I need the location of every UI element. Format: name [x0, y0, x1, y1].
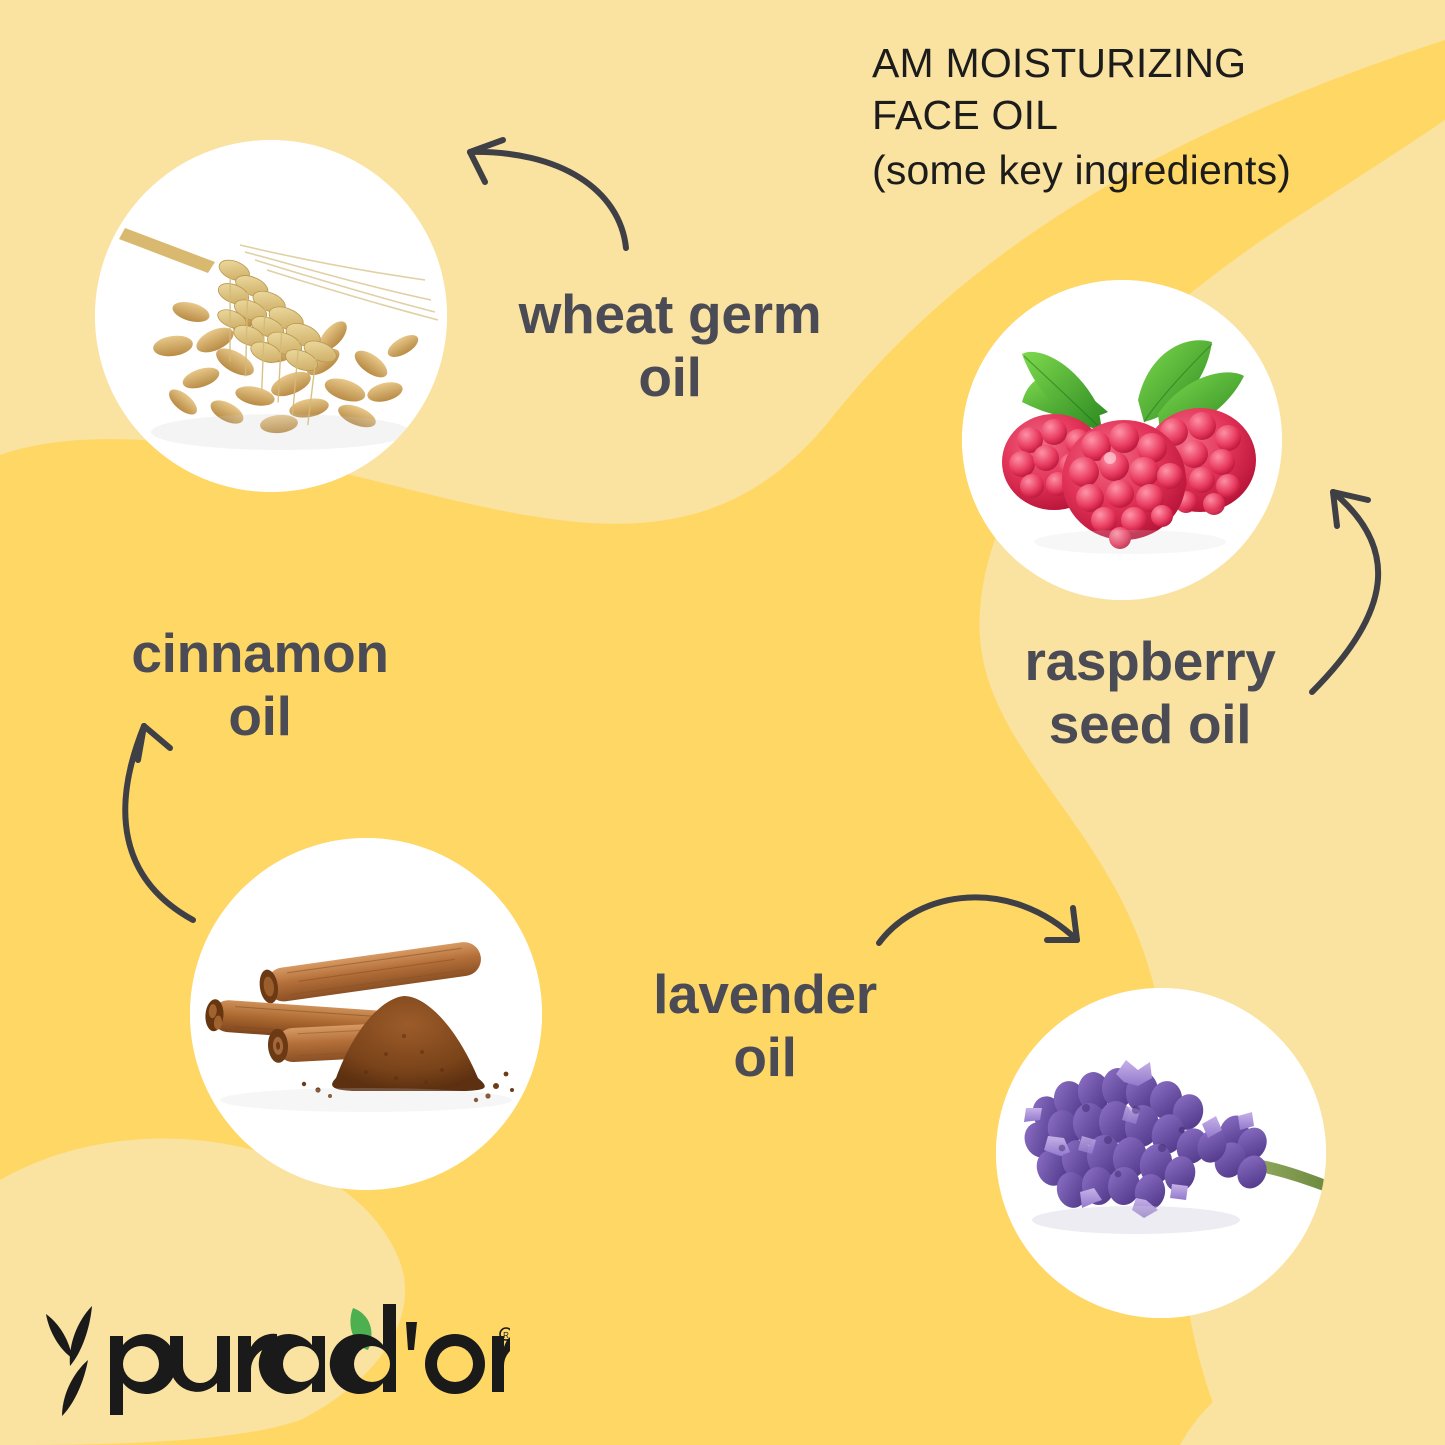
arrow-lavender — [879, 897, 1077, 943]
logo-wordmark — [110, 1304, 510, 1415]
arrow-wheat-germ — [470, 140, 626, 248]
label-lavender-oil: lavender oil — [585, 963, 945, 1088]
label-cinnamon-line-1: cinnamon — [60, 622, 460, 685]
arrow-cinnamon — [125, 726, 193, 920]
label-raspberry-seed-oil: raspberry seed oil — [955, 630, 1345, 755]
brand-logo: R — [40, 1300, 510, 1420]
label-lavender-line-2: oil — [585, 1026, 945, 1089]
label-wheat-germ-line-1: wheat germ — [455, 283, 885, 346]
infographic-canvas: AM MOISTURIZING FACE OIL (some key ingre… — [0, 0, 1445, 1445]
three-leaf-sprig-icon — [46, 1306, 92, 1416]
label-lavender-line-1: lavender — [585, 963, 945, 1026]
svg-text:R: R — [503, 1331, 509, 1340]
label-wheat-germ-line-2: oil — [455, 346, 885, 409]
registered-trademark-icon: R — [500, 1328, 510, 1340]
label-cinnamon-oil: cinnamon oil — [60, 622, 460, 747]
label-raspberry-line-2: seed oil — [955, 693, 1345, 756]
label-raspberry-line-1: raspberry — [955, 630, 1345, 693]
label-wheat-germ-oil: wheat germ oil — [455, 283, 885, 408]
label-cinnamon-line-2: oil — [60, 685, 460, 748]
